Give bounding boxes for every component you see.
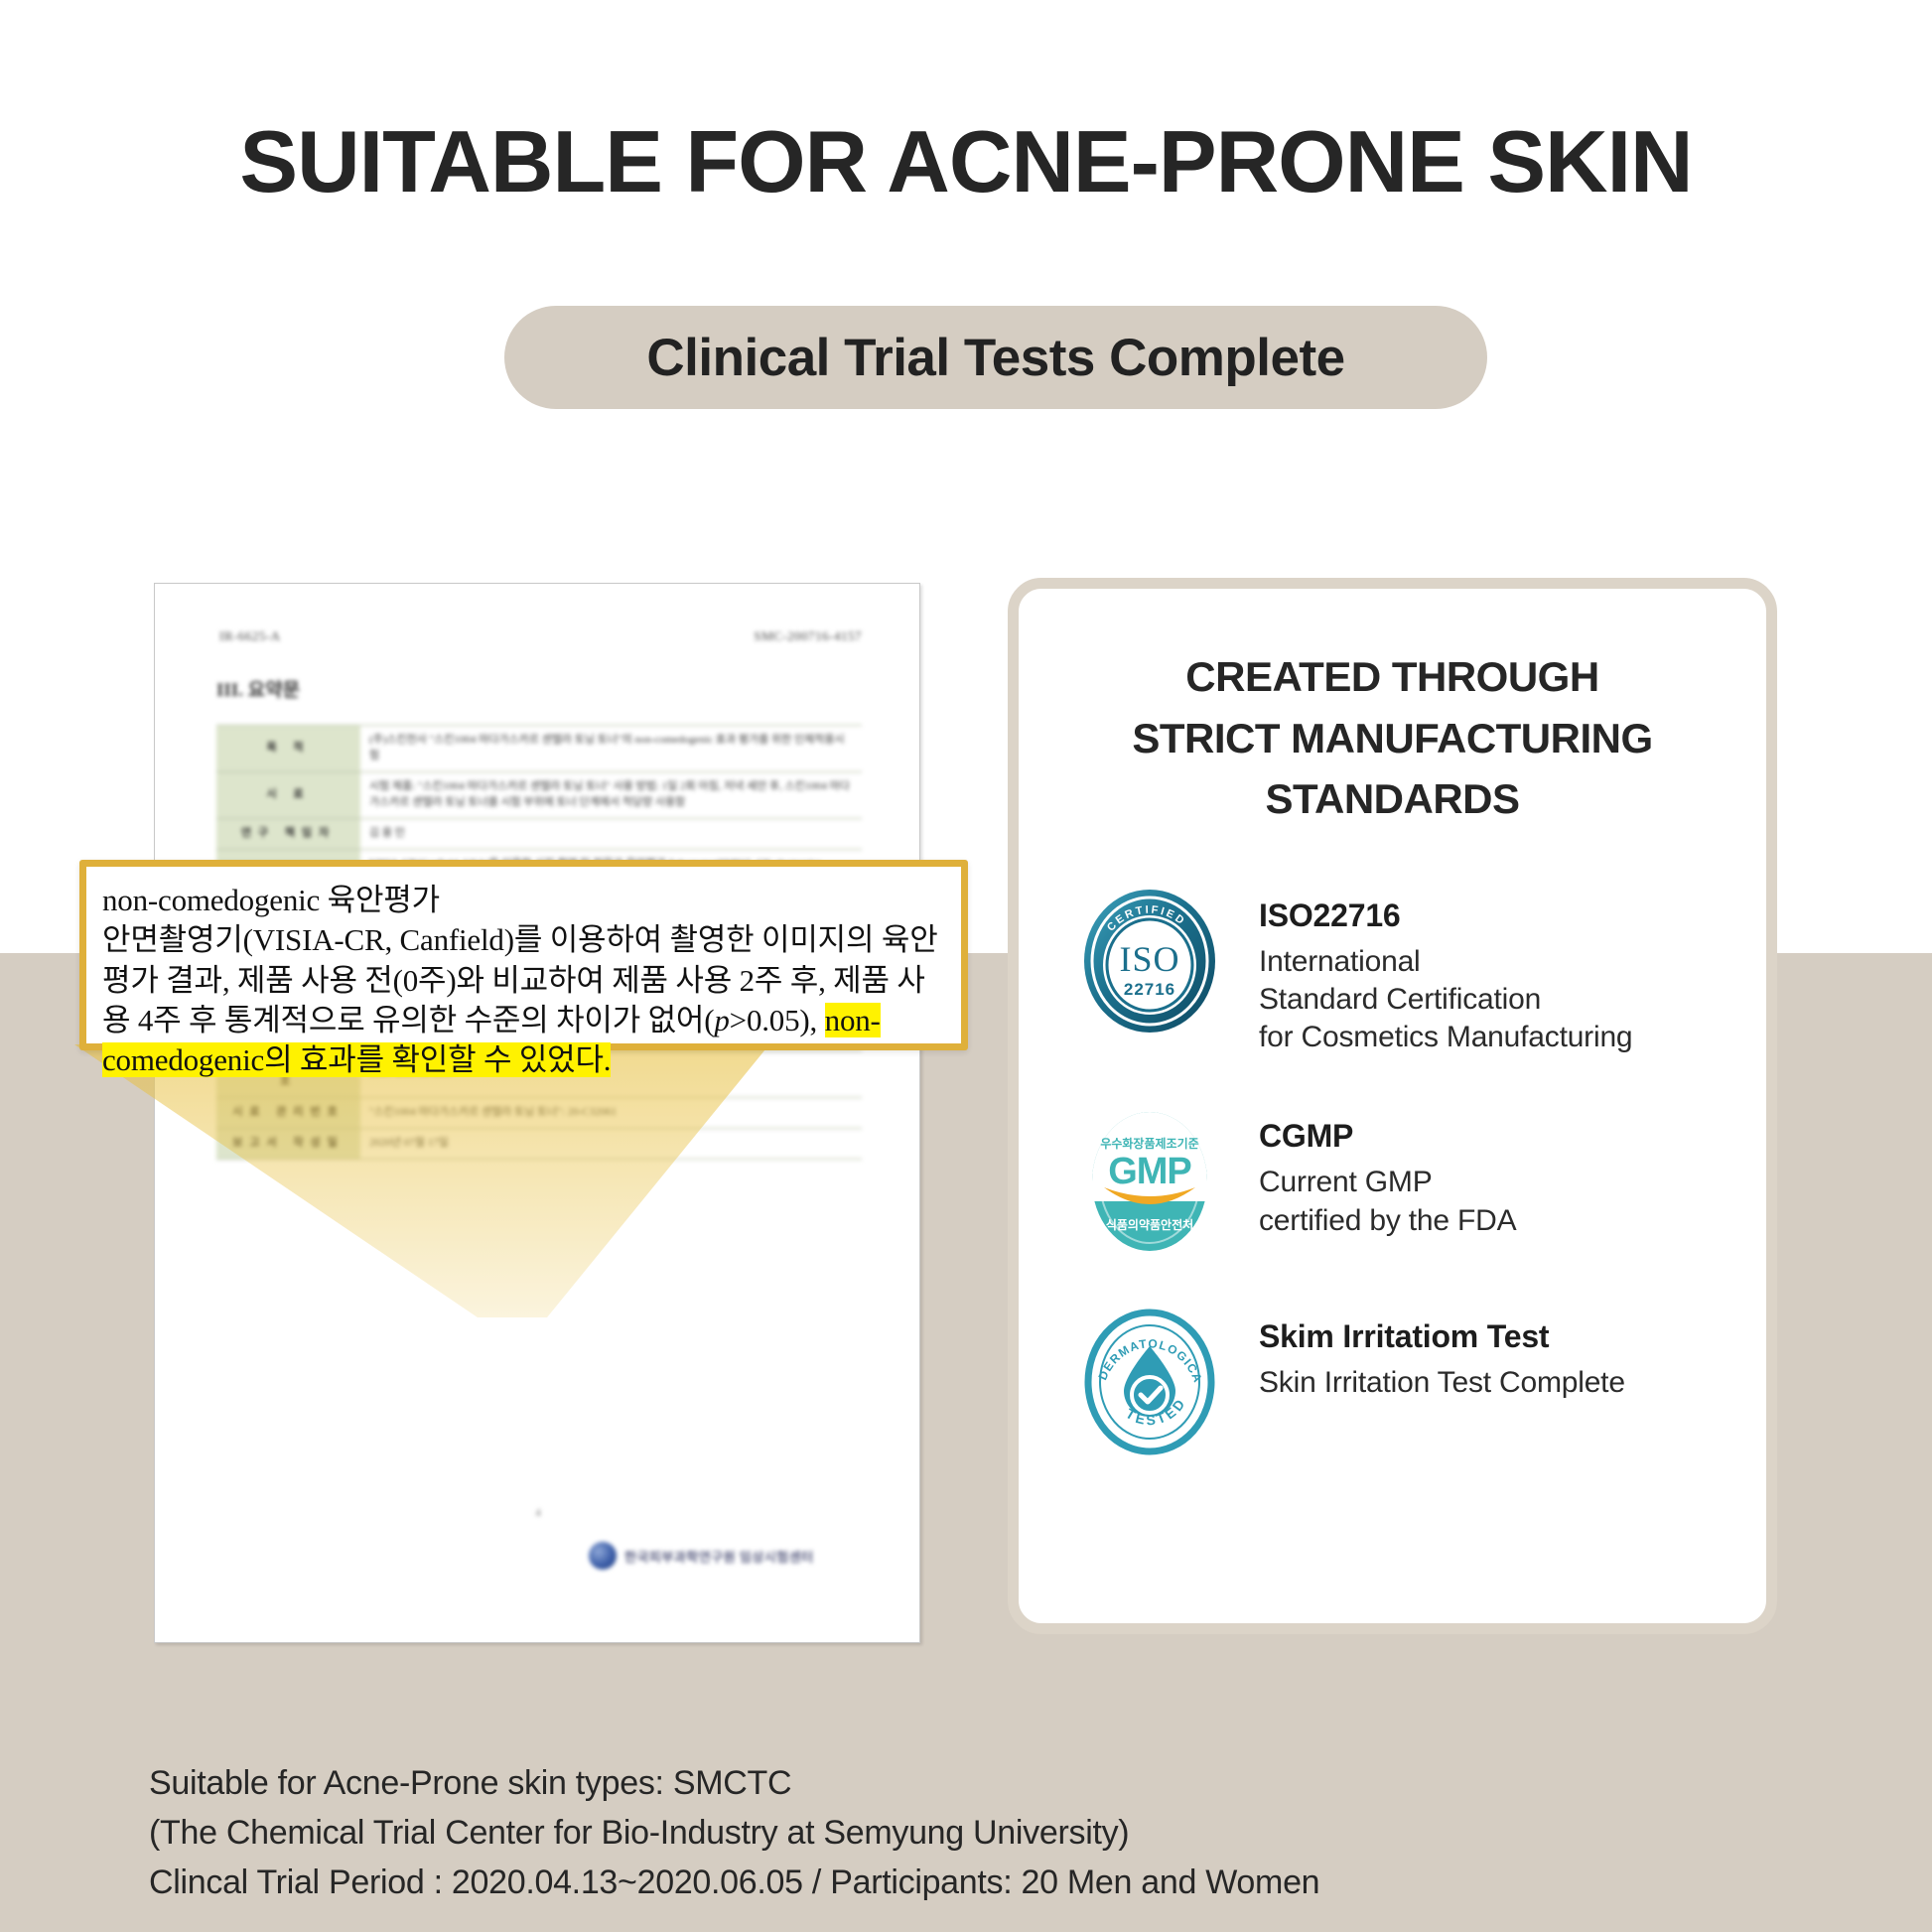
callout-highlight-1: non- bbox=[825, 1003, 881, 1037]
certification-item-cgmp-name: CGMP bbox=[1259, 1118, 1516, 1155]
certification-item-skin-irritation-copy: Skim Irritatiom Test Skin Irritation Tes… bbox=[1225, 1307, 1625, 1402]
clinical-trial-badge-label: Clinical Trial Tests Complete bbox=[646, 328, 1344, 388]
document-table-value: "스킨1004 마다가스카르 센텔라 토닝 토너": 20-C32061 bbox=[360, 1098, 862, 1129]
document-table-row: 시 료시험 제품: "스킨1004 마다가스카르 센텔라 토닝 토너" 사용 방… bbox=[216, 771, 862, 818]
document-table-row: 시료 관리번호"스킨1004 마다가스카르 센텔라 토닝 토너": 20-C32… bbox=[216, 1098, 862, 1129]
certification-item-iso-desc-3: for Cosmetics Manufacturing bbox=[1259, 1019, 1632, 1056]
document-table-value: (주)스킨천사 "스킨1004 마다가스카르 센텔라 토닝 토너"의 non-c… bbox=[360, 726, 862, 772]
footer-note: Suitable for Acne-Prone skin types: SMCT… bbox=[149, 1759, 1737, 1908]
certification-item-cgmp-desc-1: Current GMP bbox=[1259, 1164, 1516, 1201]
document-page-number: 4 bbox=[155, 1507, 920, 1519]
gmp-badge-top-text: 우수화장품제조기준 bbox=[1100, 1136, 1198, 1151]
document-table-row: 목 적(주)스킨천사 "스킨1004 마다가스카르 센텔라 토닝 토너"의 no… bbox=[216, 726, 862, 772]
issuer-logo-mark-icon bbox=[589, 1542, 617, 1570]
document-table-key: 보고서 작성일 bbox=[216, 1128, 360, 1159]
certification-item-iso-name: ISO22716 bbox=[1259, 897, 1632, 934]
document-table-key: 연구 책임자 bbox=[216, 818, 360, 849]
clinical-trial-badge: Clinical Trial Tests Complete bbox=[504, 306, 1487, 409]
certification-item-cgmp-desc-2: certified by the FDA bbox=[1259, 1202, 1516, 1240]
document-issuer-logo: 한국피부과학연구원 임상시험센터 bbox=[589, 1542, 814, 1570]
page-title: SUITABLE FOR ACNE-PRONE SKIN bbox=[0, 111, 1932, 212]
iso-certified-seal-icon: CERTIFIED ISO 22716 bbox=[1074, 886, 1225, 1036]
document-table-key: 목 적 bbox=[216, 726, 360, 772]
certification-item-iso-desc-2: Standard Certification bbox=[1259, 981, 1632, 1019]
clinical-report-document: IR-6625-A SMC-200716-4157 III. 요약문 목 적(주… bbox=[154, 583, 920, 1643]
certification-item-cgmp-copy: CGMP Current GMP certified by the FDA bbox=[1225, 1106, 1516, 1239]
footer-line-1: Suitable for Acne-Prone skin types: SMCT… bbox=[149, 1759, 1737, 1809]
certification-list: CERTIFIED ISO 22716 ISO22716 Internation… bbox=[1019, 886, 1766, 1457]
document-table-value: 시험 제품: "스킨1004 마다가스카르 센텔라 토닝 토너" 사용 방법: … bbox=[360, 771, 862, 818]
callout-line1: non-comedogenic 육안평가 bbox=[102, 883, 440, 917]
callout-p-rest: >0.05), bbox=[730, 1003, 825, 1037]
document-code-left: IR-6625-A bbox=[219, 628, 281, 644]
gmp-seal-icon: 우수화장품제조기준 GMP 식품의약품안전처 bbox=[1074, 1106, 1225, 1257]
document-table-row: 보고서 작성일2020년 07월 17일 bbox=[216, 1128, 862, 1159]
document-table-value: 김 용 민 bbox=[360, 818, 862, 849]
certification-title-line3: STANDARDS bbox=[1019, 768, 1766, 830]
certification-item-iso-desc-1: International bbox=[1259, 943, 1632, 981]
svg-text:22716: 22716 bbox=[1124, 980, 1175, 999]
document-code-right: SMC-200716-4157 bbox=[754, 628, 862, 644]
document-table-key: 시 료 bbox=[216, 771, 360, 818]
callout-highlight-box: non-comedogenic 육안평가 안면촬영기(VISIA-CR, Can… bbox=[79, 860, 968, 1050]
svg-text:GMP: GMP bbox=[1108, 1151, 1191, 1192]
document-section-heading: III. 요약문 bbox=[216, 675, 300, 702]
document-page-content: IR-6625-A SMC-200716-4157 III. 요약문 목 적(주… bbox=[155, 584, 920, 1643]
callout-p-italic: p bbox=[714, 1003, 729, 1037]
document-table-row: 연구 책임자김 용 민 bbox=[216, 818, 862, 849]
callout-highlight-2: comedogenic의 효과를 확인할 수 있었다. bbox=[102, 1042, 611, 1077]
certification-card: CREATED THROUGH STRICT MANUFACTURING STA… bbox=[1008, 578, 1777, 1634]
certification-item-iso-copy: ISO22716 International Standard Certific… bbox=[1225, 886, 1632, 1056]
certification-item-skin-irritation: DERMATOLOGICALLY TESTED Skim Irritatiom … bbox=[1074, 1307, 1766, 1457]
gmp-badge-bottom-text: 식품의약품안전처 bbox=[1106, 1217, 1193, 1232]
footer-line-2: (The Chemical Trial Center for Bio-Indus… bbox=[149, 1809, 1737, 1859]
document-table-value: 2020년 07월 17일 bbox=[360, 1128, 862, 1159]
certification-item-cgmp: 우수화장품제조기준 GMP 식품의약품안전처 CGMP Current GMP … bbox=[1074, 1106, 1766, 1257]
footer-line-3: Clincal Trial Period : 2020.04.13~2020.0… bbox=[149, 1859, 1737, 1908]
issuer-logo-text: 한국피부과학연구원 임상시험센터 bbox=[624, 1547, 814, 1566]
certification-title-line2: STRICT MANUFACTURING bbox=[1019, 708, 1766, 769]
certification-item-skin-irritation-name: Skim Irritatiom Test bbox=[1259, 1318, 1625, 1355]
document-table-key: 시료 관리번호 bbox=[216, 1098, 360, 1129]
certification-title: CREATED THROUGH STRICT MANUFACTURING STA… bbox=[1019, 646, 1766, 830]
dermatologically-tested-seal-icon: DERMATOLOGICALLY TESTED bbox=[1074, 1307, 1225, 1457]
promo-page: SUITABLE FOR ACNE-PRONE SKIN Clinical Tr… bbox=[0, 0, 1932, 1932]
certification-item-iso: CERTIFIED ISO 22716 ISO22716 Internation… bbox=[1074, 886, 1766, 1056]
svg-text:ISO: ISO bbox=[1119, 939, 1179, 979]
certification-item-skin-irritation-desc-1: Skin Irritation Test Complete bbox=[1259, 1364, 1625, 1402]
callout-text: non-comedogenic 육안평가 안면촬영기(VISIA-CR, Can… bbox=[102, 881, 945, 1080]
certification-title-line1: CREATED THROUGH bbox=[1019, 646, 1766, 708]
